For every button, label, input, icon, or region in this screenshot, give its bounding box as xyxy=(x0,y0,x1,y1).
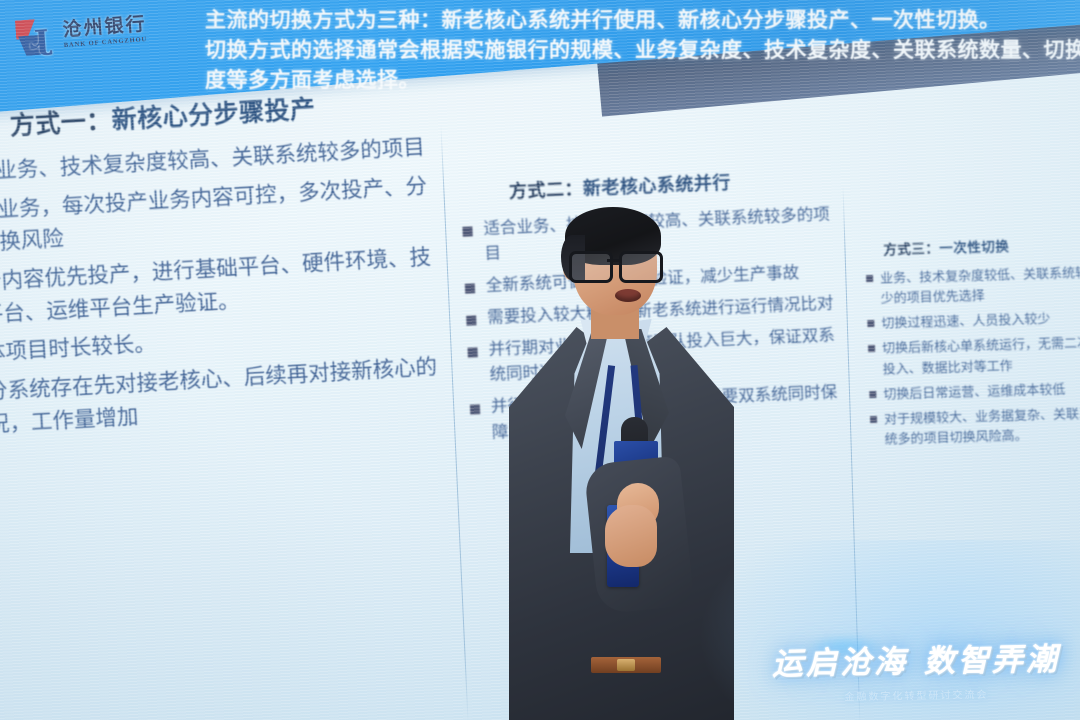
speaker-figure xyxy=(495,205,755,720)
slide-column-three: 方式三：一次性切换 业务、技术复杂度较低、关联系统较少的项目优先选择 切换过程迅… xyxy=(865,233,1080,455)
banner-intro-line: 主流的切换方式为三种：新老核心系统并行使用、新核心分步骤投产、一次性切换。 xyxy=(205,6,1080,36)
square-bullet-icon xyxy=(869,391,876,398)
column-three-heading-label: 方式三： xyxy=(883,241,939,258)
list-item: 切换后日常运营、运维成本较低 xyxy=(869,379,1080,405)
square-bullet-icon xyxy=(868,345,875,352)
column-three-bullet-5: 对于规模较大、业务据复杂、关联系统多的项目切换风险高。 xyxy=(884,404,1080,450)
conference-photo: 信创环境的切换方式 主流的切换方式为三种：新老核心系统并行使用、新核心分步骤投产… xyxy=(0,0,1080,720)
eyeglasses-icon xyxy=(569,251,661,277)
rule-left xyxy=(811,697,837,698)
square-bullet-icon xyxy=(870,416,877,423)
column-three-bullet-4: 切换后日常运营、运维成本较低 xyxy=(883,379,1066,404)
rule-right xyxy=(995,694,1021,695)
event-title-part-1: 运启沧海 xyxy=(772,644,909,681)
bank-logo-icon: ɻ xyxy=(15,16,58,59)
banner-line-1: 切换方式的选择通常会根据实施银行的规模、业务复杂度、技术复杂度、关联系统数量、切… xyxy=(205,36,1080,66)
column-three-bullet-3: 切换后新核心单系统运行，无需二次投入、数据比对等工作 xyxy=(882,333,1080,379)
glasses-lens-right xyxy=(619,251,663,283)
event-watermark: 运启沧海数智弄潮 金融数字化转型研讨交流会 xyxy=(765,633,1066,704)
list-item: 对于规模较大、业务据复杂、关联系统多的项目切换风险高。 xyxy=(870,404,1080,451)
glasses-bridge xyxy=(607,259,619,262)
speaker-mouth xyxy=(615,289,641,302)
list-item: 切换过程迅速、人员投入较少 xyxy=(867,308,1080,334)
column-one-heading-name: 新核心分步骤投产 xyxy=(111,95,316,134)
column-three-bullet-2: 切换过程迅速、人员投入较少 xyxy=(881,309,1051,334)
column-one-heading-label: 方式一： xyxy=(9,107,112,141)
list-item: 切换后新核心单系统运行，无需二次投入、数据比对等工作 xyxy=(868,333,1080,380)
column-two-heading-name: 新老核心系统并行 xyxy=(582,173,731,199)
speaker-hand-lower xyxy=(605,505,657,567)
square-bullet-icon xyxy=(866,275,873,282)
column-two-heading-label: 方式二： xyxy=(509,179,584,202)
event-title-part-2: 数智弄潮 xyxy=(924,641,1061,678)
event-title: 运启沧海数智弄潮 xyxy=(765,633,1066,683)
column-three-bullet-1: 业务、技术复杂度较低、关联系统较少的项目优先选择 xyxy=(880,263,1080,309)
square-bullet-icon xyxy=(867,320,874,327)
column-three-heading-name: 一次性切换 xyxy=(939,239,1009,256)
slide-banner-text: 主流的切换方式为三种：新老核心系统并行使用、新核心分步骤投产、一次性切换。 切换… xyxy=(205,6,1080,95)
logo-swirl-glyph: ɻ xyxy=(22,17,56,57)
slide-column-one: 方式一：新核心分步骤投产 适合业务、技术复杂度较高、关联系统较多的项目 拆分业务… xyxy=(0,83,447,449)
glasses-lens-left xyxy=(569,251,613,283)
speaker-belt xyxy=(591,657,661,673)
list-item: 业务、技术复杂度较低、关联系统较少的项目优先选择 xyxy=(866,263,1080,310)
column-one-bullet-4: 整体项目时长较长。 xyxy=(0,328,157,371)
